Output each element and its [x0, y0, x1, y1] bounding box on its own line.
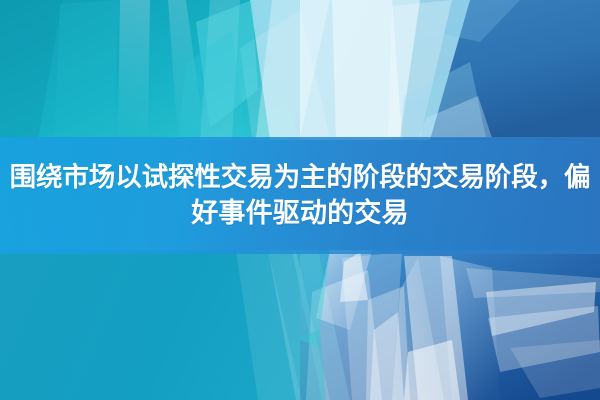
banner-image: 围绕市场以试探性交易为主的阶段的交易阶段，偏 好事件驱动的交易	[0, 0, 600, 400]
headline-line-2: 好事件驱动的交易	[191, 195, 409, 232]
headline-line-1: 围绕市场以试探性交易为主的阶段的交易阶段，偏	[10, 159, 591, 196]
headline: 围绕市场以试探性交易为主的阶段的交易阶段，偏 好事件驱动的交易	[0, 137, 600, 254]
